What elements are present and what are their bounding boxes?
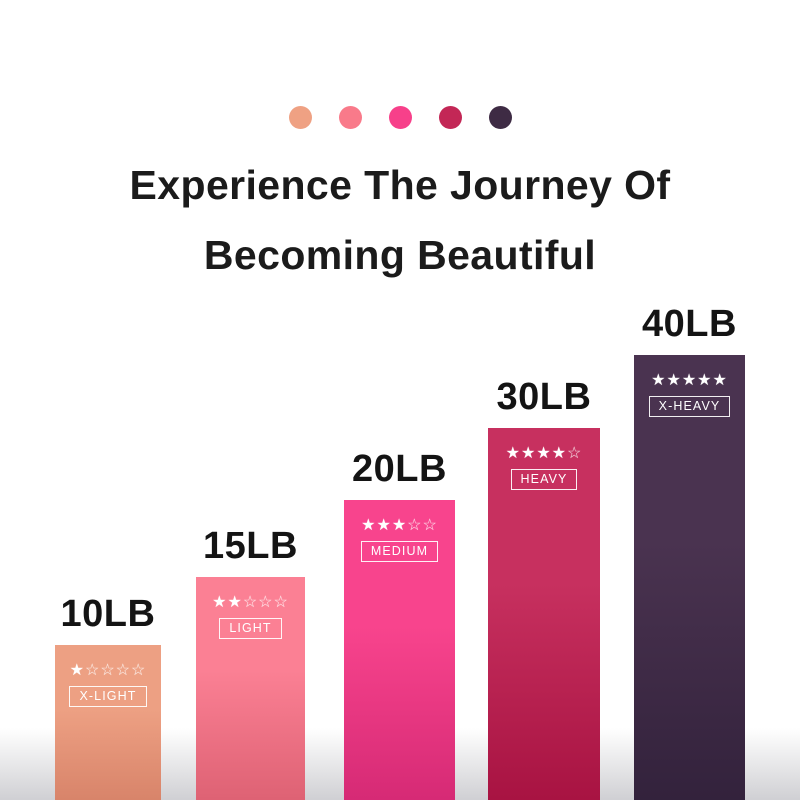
star-filled-icon: ★★★★ bbox=[506, 445, 567, 462]
bar-group-x-light[interactable]: 10LB★☆☆☆☆X-LIGHT bbox=[55, 575, 161, 800]
bar-group-medium[interactable]: 20LB★★★☆☆MEDIUM bbox=[344, 430, 455, 800]
bar-badge-stack: ★☆☆☆☆X-LIGHT bbox=[55, 663, 161, 707]
bar-value-label: 15LB bbox=[203, 527, 298, 565]
star-rating: ★★☆☆☆ bbox=[212, 595, 289, 611]
page-title: Experience The Journey Of Becoming Beaut… bbox=[0, 150, 800, 290]
star-filled-icon: ★★★ bbox=[361, 517, 407, 534]
level-badge: X-LIGHT bbox=[69, 686, 146, 707]
star-empty-icon: ☆☆☆ bbox=[243, 594, 289, 611]
star-empty-icon: ☆☆ bbox=[407, 517, 438, 534]
star-rating: ★☆☆☆☆ bbox=[70, 663, 147, 679]
level-badge: HEAVY bbox=[511, 469, 578, 490]
title-line-1: Experience The Journey Of bbox=[0, 150, 800, 220]
star-rating: ★★★★★ bbox=[651, 373, 728, 389]
dot-medium bbox=[389, 106, 412, 129]
star-filled-icon: ★ bbox=[70, 662, 85, 679]
title-line-2: Becoming Beautiful bbox=[0, 220, 800, 290]
bar-badge-stack: ★★☆☆☆LIGHT bbox=[196, 595, 305, 639]
bar-group-heavy[interactable]: 30LB★★★★☆HEAVY bbox=[488, 358, 600, 800]
bar-value-label: 30LB bbox=[497, 378, 592, 416]
level-badge: X-HEAVY bbox=[649, 396, 731, 417]
bar-x-heavy[interactable]: ★★★★★X-HEAVY bbox=[634, 355, 745, 800]
bar-group-x-heavy[interactable]: 40LB★★★★★X-HEAVY bbox=[634, 285, 745, 800]
dot-light bbox=[339, 106, 362, 129]
bar-badge-stack: ★★★☆☆MEDIUM bbox=[344, 518, 455, 562]
bar-group-light[interactable]: 15LB★★☆☆☆LIGHT bbox=[196, 507, 305, 800]
level-badge: MEDIUM bbox=[361, 541, 438, 562]
star-rating: ★★★☆☆ bbox=[361, 518, 438, 534]
bar-light[interactable]: ★★☆☆☆LIGHT bbox=[196, 577, 305, 800]
bar-value-label: 10LB bbox=[61, 595, 156, 633]
star-filled-icon: ★★★★★ bbox=[651, 372, 728, 389]
dot-heavy bbox=[439, 106, 462, 129]
bar-badge-stack: ★★★★★X-HEAVY bbox=[634, 373, 745, 417]
color-swatch-row bbox=[0, 106, 800, 129]
bar-value-label: 40LB bbox=[642, 305, 737, 343]
infographic-canvas: Experience The Journey Of Becoming Beaut… bbox=[0, 0, 800, 800]
bar-heavy[interactable]: ★★★★☆HEAVY bbox=[488, 428, 600, 800]
bar-badge-stack: ★★★★☆HEAVY bbox=[488, 446, 600, 490]
dot-x-light bbox=[289, 106, 312, 129]
star-empty-icon: ☆☆☆☆ bbox=[85, 662, 146, 679]
bar-x-light[interactable]: ★☆☆☆☆X-LIGHT bbox=[55, 645, 161, 800]
star-rating: ★★★★☆ bbox=[506, 446, 583, 462]
bar-value-label: 20LB bbox=[352, 450, 447, 488]
level-badge: LIGHT bbox=[219, 618, 281, 639]
star-filled-icon: ★★ bbox=[212, 594, 243, 611]
star-empty-icon: ☆ bbox=[567, 445, 582, 462]
bar-medium[interactable]: ★★★☆☆MEDIUM bbox=[344, 500, 455, 800]
dot-x-heavy bbox=[489, 106, 512, 129]
